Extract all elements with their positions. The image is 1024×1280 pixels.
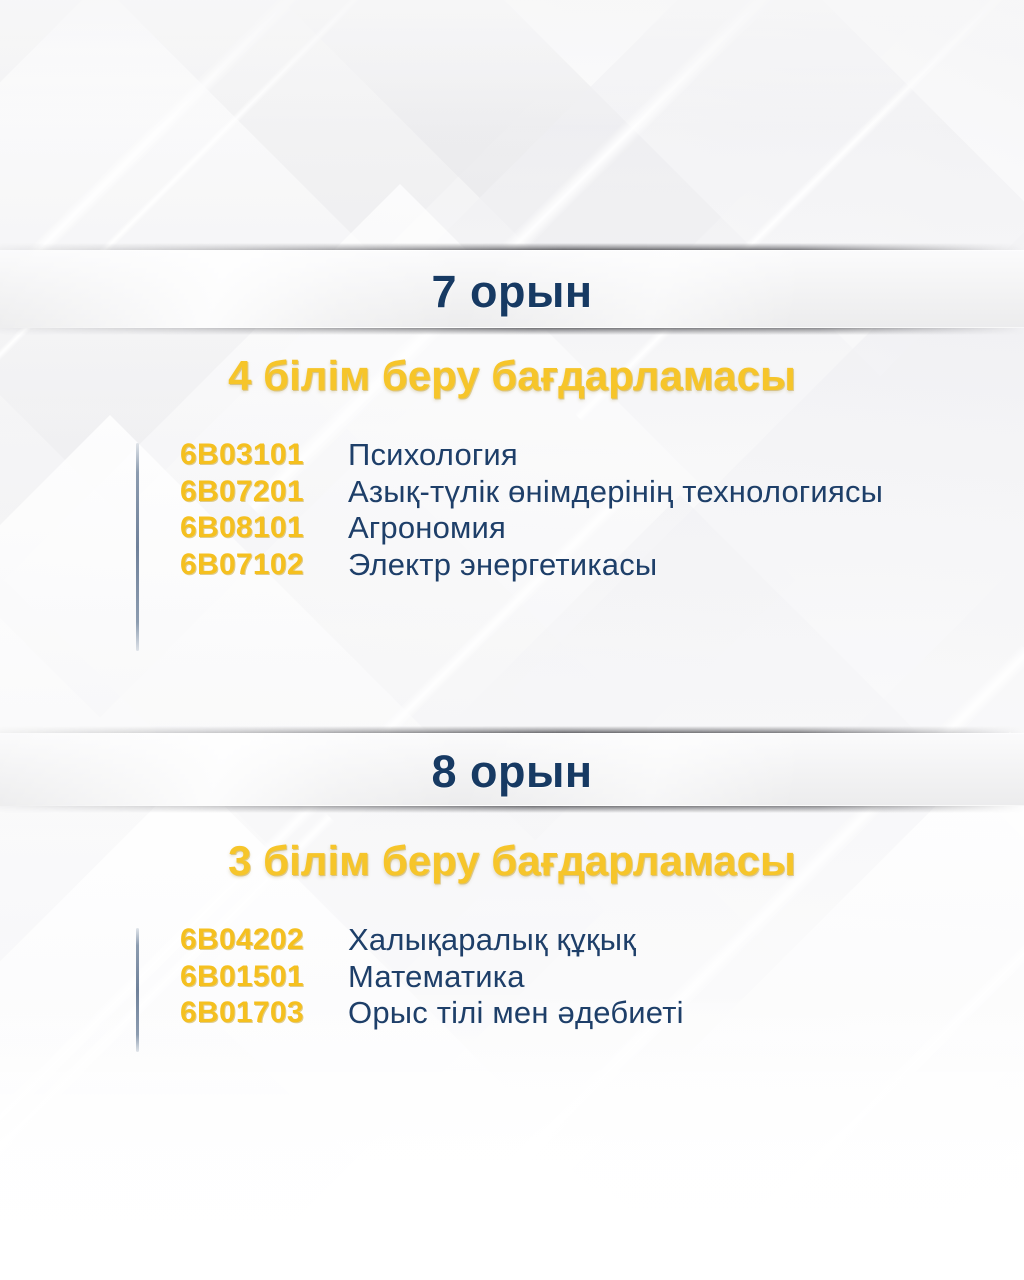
section-1-subtitle: 4 білім беру бағдарламасы	[0, 352, 1024, 400]
list-item[interactable]: 6B07201 Азық-түлік өнімдерінің технологи…	[180, 474, 883, 511]
program-name: Психология	[348, 437, 883, 474]
infographic-slide: 7 орын 4 білім беру бағдарламасы 6B03101…	[0, 0, 1024, 1280]
program-rows: 6B03101 Психология 6B07201 Азық-түлік өн…	[180, 437, 883, 583]
list-vertical-rule	[136, 443, 139, 651]
program-code: 6B01501	[180, 959, 348, 994]
section-1-program-list: 6B03101 Психология 6B07201 Азық-түлік өн…	[136, 437, 883, 583]
program-name: Азық-түлік өнімдерінің технологиясы	[348, 474, 883, 511]
list-item[interactable]: 6B03101 Психология	[180, 437, 883, 474]
program-rows: 6B04202 Халықаралық құқық 6B01501 Матема…	[180, 922, 684, 1032]
list-item[interactable]: 6B07102 Электр энергетикасы	[180, 547, 883, 584]
program-name: Орыс тілі мен әдебиеті	[348, 995, 684, 1032]
section-2-program-list: 6B04202 Халықаралық құқық 6B01501 Матема…	[136, 922, 684, 1032]
program-name: Электр энергетикасы	[348, 547, 883, 584]
banner-shadow-top	[0, 243, 1024, 250]
program-code: 6B07102	[180, 547, 348, 582]
banner-shadow-bottom	[0, 328, 1024, 335]
banner-hairline-top	[0, 733, 1024, 734]
program-code: 6B08101	[180, 510, 348, 545]
program-name: Агрономия	[348, 510, 883, 547]
list-item[interactable]: 6B04202 Халықаралық құқық	[180, 922, 684, 959]
list-item[interactable]: 6B01703 Орыс тілі мен әдебиеті	[180, 995, 684, 1032]
program-name: Халықаралық құқық	[348, 922, 684, 959]
program-code: 6B03101	[180, 437, 348, 472]
banner-hairline-top	[0, 250, 1024, 251]
list-item[interactable]: 6B08101 Агрономия	[180, 510, 883, 547]
section-2-place-count: 8 орын	[0, 746, 1024, 798]
section-2-subtitle: 3 білім беру бағдарламасы	[0, 837, 1024, 885]
program-code: 6B01703	[180, 995, 348, 1030]
program-name: Математика	[348, 959, 684, 996]
slide-content: 7 орын 4 білім беру бағдарламасы 6B03101…	[0, 0, 1024, 1280]
section-1-place-count: 7 орын	[0, 266, 1024, 318]
program-code: 6B07201	[180, 474, 348, 509]
banner-shadow-bottom	[0, 806, 1024, 813]
banner-shadow-top	[0, 726, 1024, 733]
list-item[interactable]: 6B01501 Математика	[180, 959, 684, 996]
section-banner-1: 7 орын	[0, 250, 1024, 328]
list-vertical-rule	[136, 928, 139, 1052]
program-code: 6B04202	[180, 922, 348, 957]
section-banner-2: 8 орын	[0, 733, 1024, 806]
